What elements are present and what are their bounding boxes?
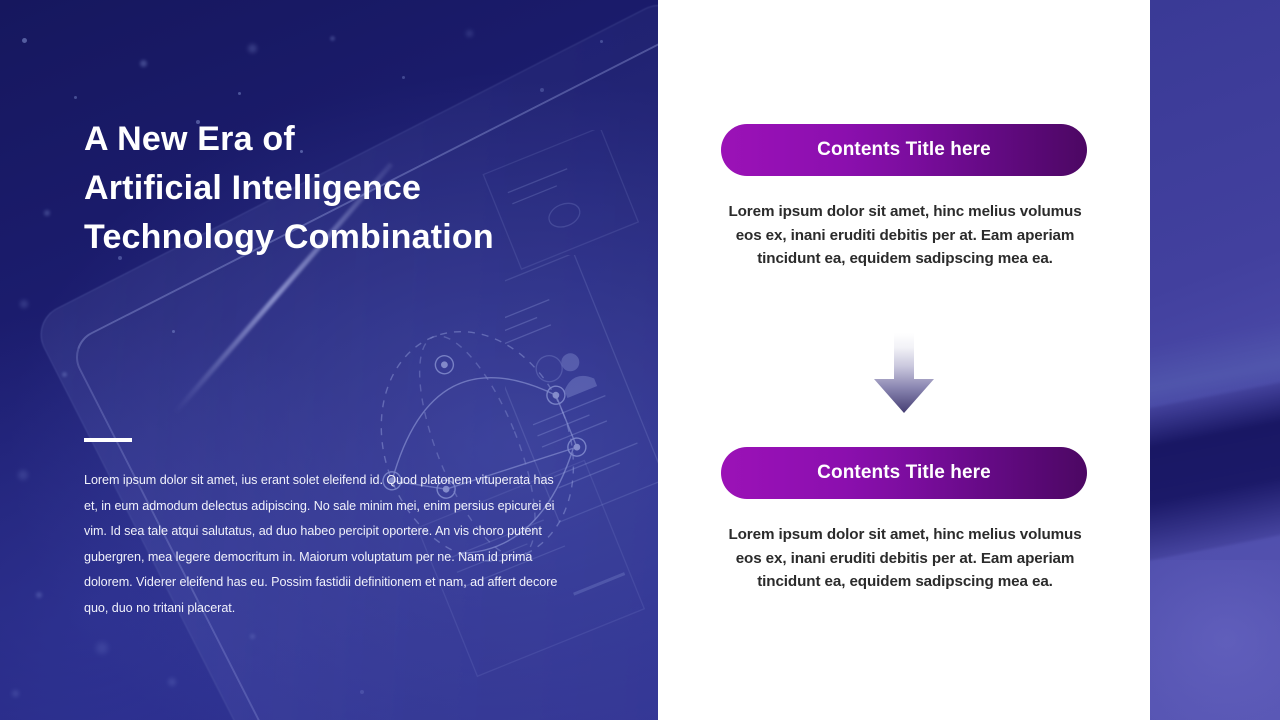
content-block-2-body: Lorem ipsum dolor sit amet, hinc melius …: [720, 523, 1090, 594]
hero-panel: A New Era of Artificial Intelligence Tec…: [0, 0, 658, 720]
hero-body-paragraph: Lorem ipsum dolor sit amet, ius erant so…: [84, 468, 562, 621]
title-divider: [84, 438, 132, 442]
page-title: A New Era of Artificial Intelligence Tec…: [84, 115, 624, 262]
right-decorative-strip: [1148, 0, 1280, 720]
down-arrow-icon: [872, 331, 936, 415]
headline-line-2: Artificial Intelligence: [84, 164, 624, 213]
content-panel: Contents Title here Lorem ipsum dolor si…: [658, 0, 1150, 720]
content-block-1-button[interactable]: Contents Title here: [721, 124, 1087, 176]
headline-line-1: A New Era of: [84, 115, 624, 164]
headline-line-3: Technology Combination: [84, 213, 624, 262]
right-strip-glow: [1148, 560, 1280, 720]
content-block-1-button-label: Contents Title here: [817, 139, 991, 161]
slide-canvas: A New Era of Artificial Intelligence Tec…: [0, 0, 1280, 720]
content-block-2-button[interactable]: Contents Title here: [721, 447, 1087, 499]
content-block-1-body: Lorem ipsum dolor sit amet, hinc melius …: [720, 200, 1090, 271]
content-block-2-button-label: Contents Title here: [817, 462, 991, 484]
